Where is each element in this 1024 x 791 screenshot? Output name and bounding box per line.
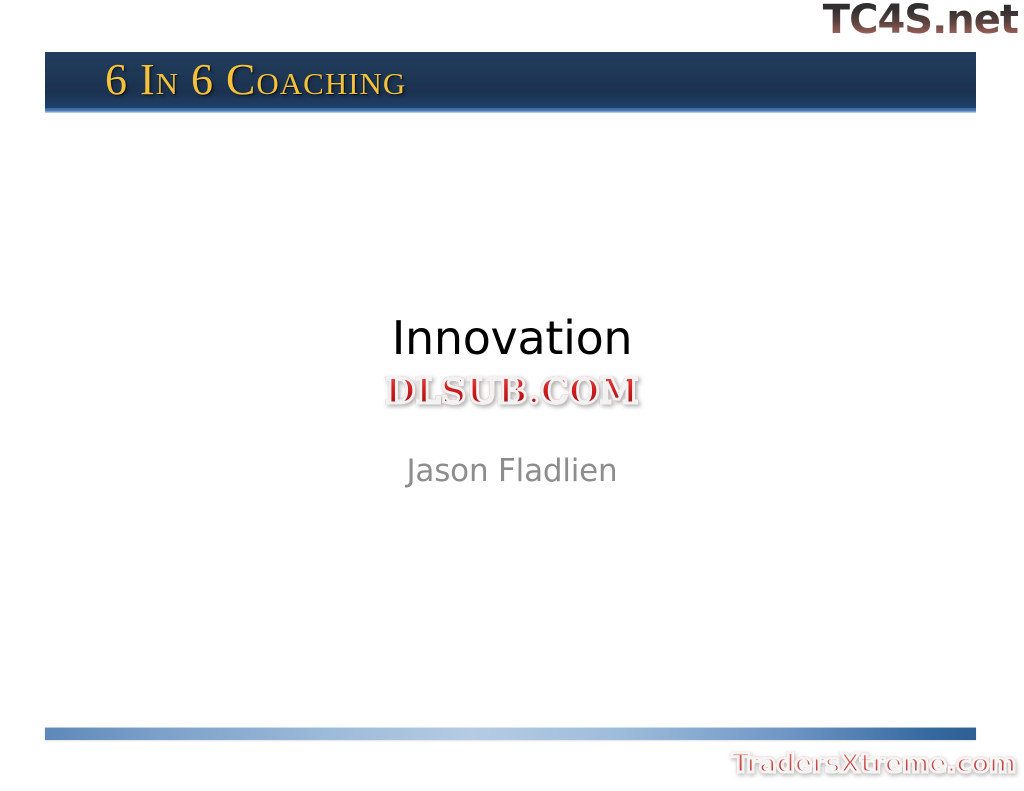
slide-title: Innovation xyxy=(0,312,1024,364)
tradersxtreme-watermark: TradersXtreme.com xyxy=(732,748,1016,780)
tc4s-watermark: TC4S.net xyxy=(823,0,1018,42)
footer-decorative-bar xyxy=(45,727,976,740)
tradersxtreme-watermark-text: TradersXtreme.com xyxy=(732,748,1016,780)
banner-title: 6 In 6 Coaching xyxy=(105,56,406,104)
dlsub-watermark-text: DLSUB.COM xyxy=(385,372,639,412)
dlsub-watermark: DLSUB.COM xyxy=(0,372,1024,412)
subtitle-block: Jason Fladlien xyxy=(0,452,1024,490)
banner-underline xyxy=(45,108,976,113)
slide-subtitle: Jason Fladlien xyxy=(0,452,1024,490)
title-block: Innovation xyxy=(0,312,1024,364)
header-banner: 6 In 6 Coaching xyxy=(45,52,976,108)
presentation-slide: TC4S.net TC4S.net 6 In 6 Coaching Innova… xyxy=(0,0,1024,791)
